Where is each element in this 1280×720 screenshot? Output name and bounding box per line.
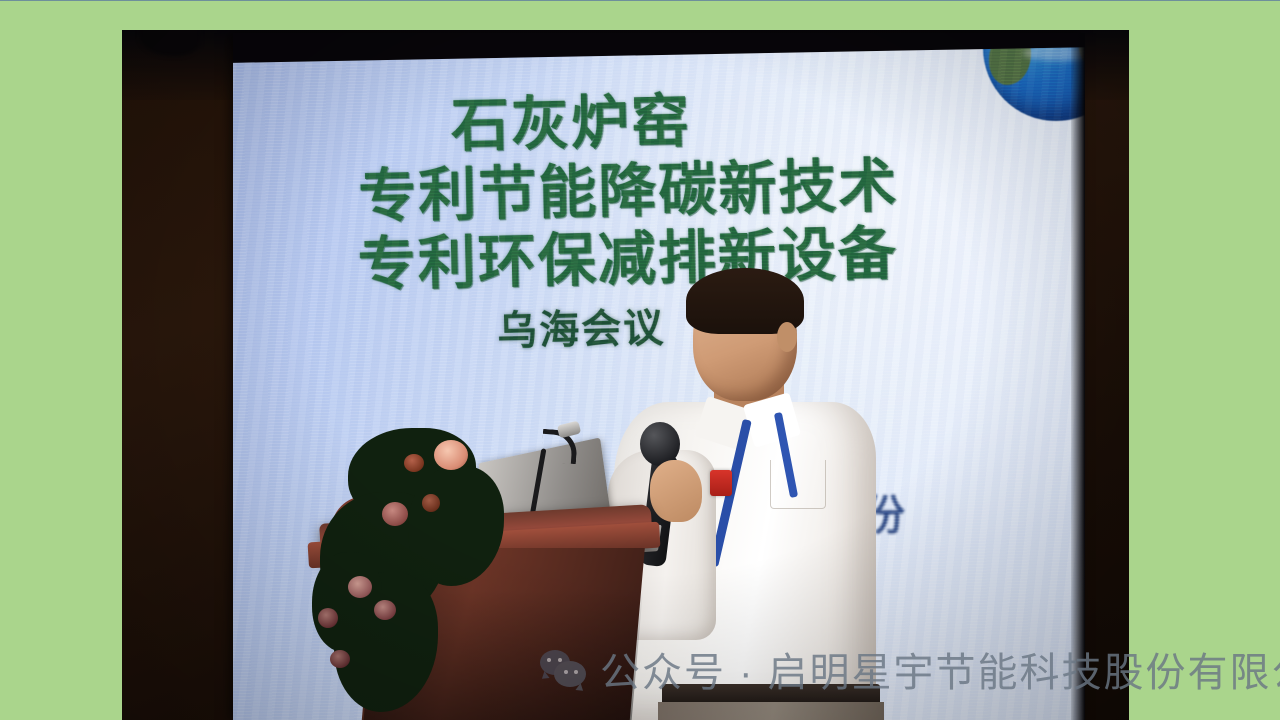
rose-dark xyxy=(382,502,408,526)
foliage-cluster xyxy=(408,466,504,586)
rose-orange xyxy=(422,494,440,512)
rose-dark xyxy=(318,608,338,628)
rose-dusty xyxy=(348,576,372,598)
flower-arrangement xyxy=(312,422,542,720)
screenshot-root: 地球 石灰炉窑 专利节能降碳新技术 专利环保减排新设备 乌海会议 启明星宇节能科… xyxy=(0,0,1280,720)
rose-orange xyxy=(404,454,424,472)
rose-pink xyxy=(434,440,468,470)
wechat-dot xyxy=(564,670,568,674)
watermark: 公众号 · 启明星宇节能科技股份有限公司 xyxy=(540,640,1280,698)
wechat-dot xyxy=(574,670,578,674)
wechat-bubble-small xyxy=(554,661,586,687)
watermark-text: 公众号 · 启明星宇节能科技股份有限公司 xyxy=(600,640,1280,698)
conference-photograph: 地球 石灰炉窑 专利节能降碳新技术 专利环保减排新设备 乌海会议 启明星宇节能科… xyxy=(122,30,1129,720)
rose-dark xyxy=(330,650,350,668)
presenter-trousers xyxy=(658,702,884,720)
presenter-ear xyxy=(777,322,797,352)
rose-dusty xyxy=(374,600,396,620)
presenter-hand xyxy=(650,460,702,522)
presenter-shirt-pocket xyxy=(770,460,826,509)
presenter-badge-pin xyxy=(710,470,732,496)
wechat-dot xyxy=(547,658,551,662)
wechat-icon xyxy=(540,650,586,688)
wechat-dot xyxy=(558,658,562,662)
